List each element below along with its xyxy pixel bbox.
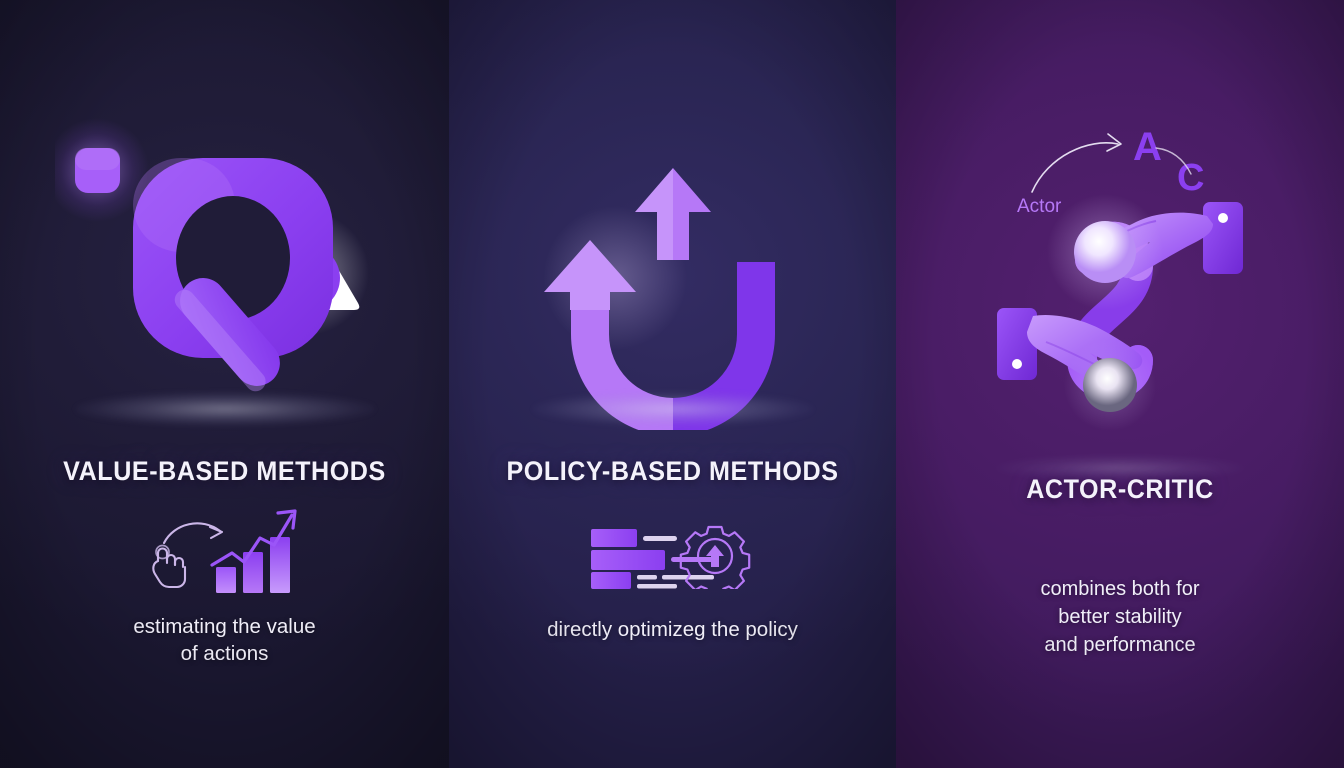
bar-chart-growth-icon bbox=[212, 511, 295, 593]
value-based-artwork bbox=[0, 0, 449, 430]
caption-line: better stability bbox=[896, 603, 1344, 631]
panel-title-actor-critic: ACTOR-CRITIC bbox=[912, 474, 1329, 505]
caption-line: directly optimizeg the policy bbox=[449, 616, 896, 643]
orb-lower bbox=[1083, 358, 1137, 412]
panel-policy-based: POLICY-BASED METHODS bbox=[449, 0, 896, 768]
u-turn-arrow-icon bbox=[543, 150, 803, 430]
cursor-hand-icon bbox=[153, 546, 185, 588]
caption-line: estimating the value bbox=[0, 613, 449, 640]
panel-actor-critic: A C Actor bbox=[896, 0, 1344, 768]
letter-a-label: A bbox=[1133, 125, 1162, 169]
actor-critic-artwork: A C Actor bbox=[896, 0, 1344, 430]
panel-caption-actor-critic: combines both for better stability and p… bbox=[896, 575, 1344, 659]
policy-based-artwork bbox=[449, 0, 896, 430]
caption-line: and performance bbox=[896, 631, 1344, 659]
curved-arrow-icon bbox=[164, 523, 220, 543]
letter-c-label: C bbox=[1177, 157, 1204, 199]
q-letter-icon bbox=[55, 118, 395, 418]
actor-label: Actor bbox=[1017, 196, 1062, 217]
infographic-stage: VALUE-BASED METHODS bbox=[0, 0, 1344, 768]
caption-line: of actions bbox=[0, 640, 449, 667]
caption-line: combines both for bbox=[896, 575, 1344, 603]
two-hands-orbs-icon: A C Actor bbox=[970, 120, 1270, 450]
artwork-reflection bbox=[533, 392, 813, 426]
panel-title-value-based: VALUE-BASED METHODS bbox=[16, 456, 434, 487]
panel-title-policy-based: POLICY-BASED METHODS bbox=[465, 456, 881, 487]
orb-upper bbox=[1074, 221, 1136, 283]
panel-value-based: VALUE-BASED METHODS bbox=[0, 0, 449, 768]
curved-arrow-icon bbox=[1032, 143, 1118, 192]
artwork-reflection bbox=[75, 392, 375, 426]
panel-caption-policy-based: directly optimizeg the policy bbox=[449, 616, 896, 643]
policy-based-sub-icons bbox=[449, 523, 896, 589]
panel-caption-value-based: estimating the value of actions bbox=[0, 613, 449, 667]
value-based-sub-icons bbox=[0, 505, 449, 595]
